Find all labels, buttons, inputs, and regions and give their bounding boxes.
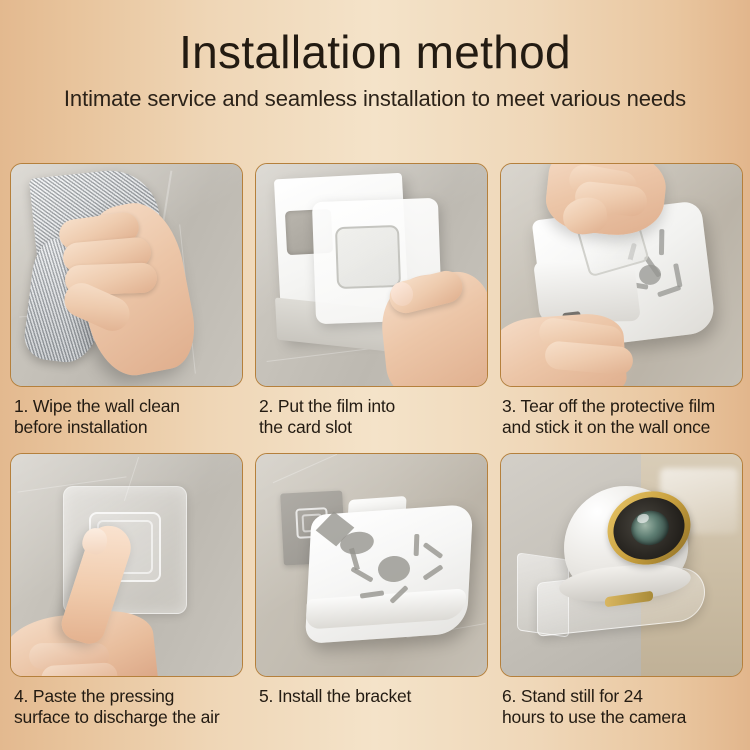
adhesive-film-square — [335, 225, 401, 289]
caption-line-1: 6. Stand still for 24 — [502, 686, 741, 707]
page-title: Installation method — [0, 28, 750, 76]
step-caption-1: 1. Wipe the wall clean before installati… — [10, 387, 243, 453]
step-card-3: 3. Tear off the protective film and stic… — [500, 163, 743, 453]
step-card-5: 5. Install the bracket — [255, 453, 488, 743]
step-card-4: 4. Paste the pressing surface to dischar… — [10, 453, 243, 743]
step-card-6: 6. Stand still for 24 hours to use the c… — [500, 453, 743, 743]
step-caption-5: 5. Install the bracket — [255, 677, 488, 743]
caption-line-2: surface to discharge the air — [14, 707, 241, 728]
step-image-3 — [500, 163, 743, 387]
caption-line-1: 1. Wipe the wall clean — [14, 396, 241, 417]
caption-line-1: 5. Install the bracket — [259, 686, 486, 707]
step-image-6 — [500, 453, 743, 677]
caption-line-1: 2. Put the film into — [259, 396, 486, 417]
caption-line-2: before installation — [14, 417, 241, 438]
steps-grid: 1. Wipe the wall clean before installati… — [10, 163, 740, 743]
step-card-2: 2. Put the film into the card slot — [255, 163, 488, 453]
caption-line-1: 4. Paste the pressing — [14, 686, 241, 707]
caption-line-1: 3. Tear off the protective film — [502, 396, 741, 417]
sun-ray — [414, 534, 420, 556]
step-caption-6: 6. Stand still for 24 hours to use the c… — [500, 677, 743, 743]
step-card-1: 1. Wipe the wall clean before installati… — [10, 163, 243, 453]
step-caption-2: 2. Put the film into the card slot — [255, 387, 488, 453]
page-subtitle: Intimate service and seamless installati… — [0, 86, 750, 112]
step-image-4 — [10, 453, 243, 677]
page-header: Installation method Intimate service and… — [0, 0, 750, 112]
step-image-5 — [255, 453, 488, 677]
caption-line-2: the card slot — [259, 417, 486, 438]
step-image-2 — [255, 163, 488, 387]
step-caption-3: 3. Tear off the protective film and stic… — [500, 387, 743, 453]
caption-line-2: hours to use the camera — [502, 707, 741, 728]
step-caption-4: 4. Paste the pressing surface to dischar… — [10, 677, 243, 743]
caption-line-2: and stick it on the wall once — [502, 417, 741, 438]
step-image-1 — [10, 163, 243, 387]
